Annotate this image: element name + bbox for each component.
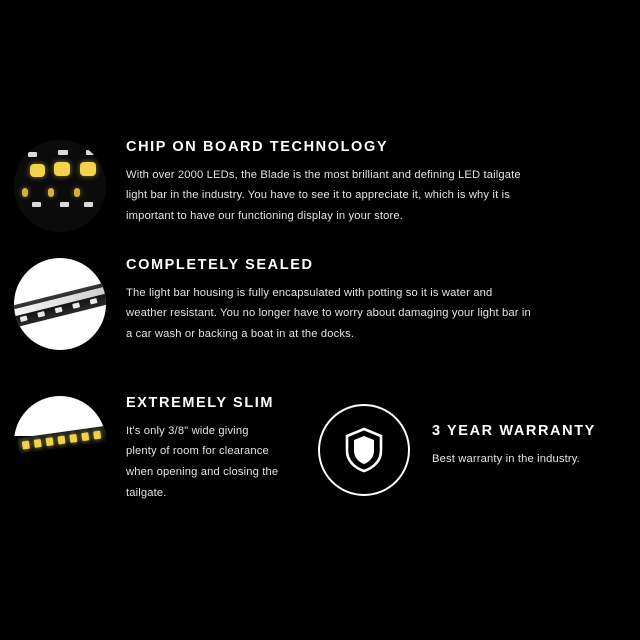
feature-title: COMPLETELY SEALED	[126, 258, 531, 273]
led-phosphor-dot	[80, 162, 96, 176]
solder-pad	[84, 202, 93, 207]
led-module	[69, 434, 77, 443]
solder-pad	[58, 150, 68, 155]
feature-body: The light bar housing is fully encapsula…	[126, 283, 531, 345]
led-phosphor-dot	[22, 188, 28, 197]
feature-text-block: CHIP ON BOARD TECHNOLOGY With over 2000 …	[126, 140, 526, 227]
solder-pad	[28, 152, 37, 157]
led-module	[57, 436, 65, 445]
feature-chip-on-board: CHIP ON BOARD TECHNOLOGY With over 2000 …	[14, 140, 526, 232]
led-module	[20, 315, 28, 322]
led-phosphor-dot	[30, 164, 45, 177]
shield-icon	[344, 427, 384, 473]
feature-completely-sealed: COMPLETELY SEALED The light bar housing …	[14, 258, 531, 350]
feature-body: With over 2000 LEDs, the Blade is the mo…	[126, 165, 526, 227]
led-module	[55, 307, 63, 314]
feature-text-block: COMPLETELY SEALED The light bar housing …	[126, 258, 531, 345]
solder-pad	[32, 202, 41, 207]
led-module	[46, 437, 54, 446]
feature-title: EXTREMELY SLIM	[126, 396, 281, 411]
led-phosphor-dot	[54, 162, 70, 176]
feature-text-block: EXTREMELY SLIM It's only 3/8" wide givin…	[126, 396, 281, 503]
slim-light-bar-photo	[14, 396, 106, 488]
led-phosphor-dot	[74, 188, 80, 197]
feature-body: It's only 3/8" wide giving plenty of roo…	[126, 421, 281, 504]
led-module	[93, 431, 101, 440]
led-module	[22, 441, 30, 450]
feature-text-block: 3 YEAR WARRANTY Best warranty in the ind…	[432, 424, 632, 469]
feature-three-year-warranty: 3 YEAR WARRANTY Best warranty in the ind…	[318, 404, 632, 496]
cob-led-board-photo	[14, 140, 106, 232]
led-module	[90, 298, 98, 305]
feature-extremely-slim: EXTREMELY SLIM It's only 3/8" wide givin…	[14, 396, 281, 503]
led-module	[81, 432, 89, 441]
led-phosphor-dot	[48, 188, 54, 197]
sealed-light-bar-photo	[14, 258, 106, 350]
led-module	[72, 302, 80, 309]
warranty-badge	[318, 404, 410, 496]
feature-title: 3 YEAR WARRANTY	[432, 424, 632, 439]
led-module	[37, 311, 45, 318]
feature-panel: CHIP ON BOARD TECHNOLOGY With over 2000 …	[0, 0, 640, 640]
led-module	[34, 439, 42, 448]
solder-pad	[60, 202, 69, 207]
feature-title: CHIP ON BOARD TECHNOLOGY	[126, 140, 526, 155]
feature-body: Best warranty in the industry.	[432, 449, 632, 470]
solder-pad	[86, 150, 96, 155]
